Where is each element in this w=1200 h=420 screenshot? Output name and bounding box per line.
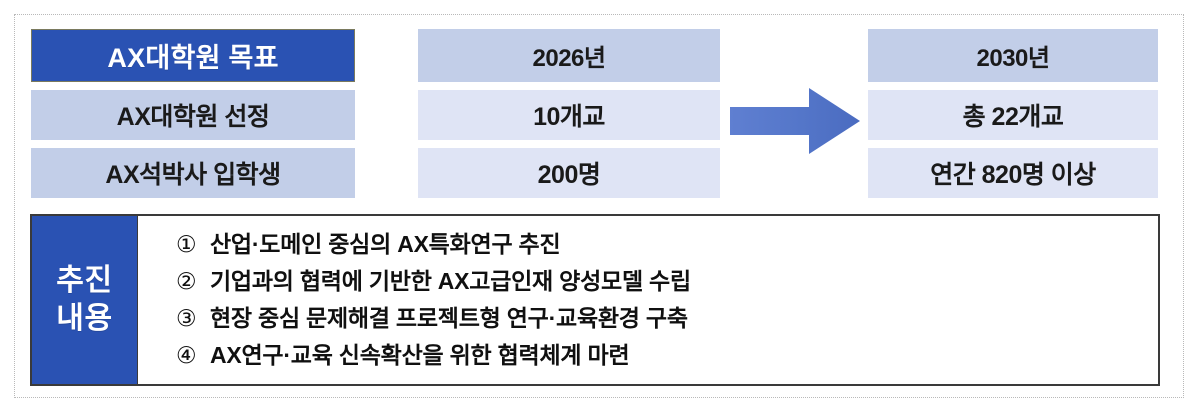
infographic-root: AX대학원 목표 2026년 2030년 AX대학원 선정 10개교 총 22개… — [0, 0, 1200, 420]
cell-2030-masters-phd-students: 연간 820명 이상 — [868, 148, 1158, 198]
bullet-marker-2: ② — [176, 270, 210, 293]
bullet-marker-3: ③ — [176, 307, 210, 330]
list-item: ② 기업과의 협력에 기반한 AX고급인재 양성모델 수립 — [176, 263, 1158, 300]
bullet-text-1: 산업·도메인 중심의 AX특화연구 추진 — [210, 233, 560, 256]
bullet-marker-1: ① — [176, 233, 210, 256]
bullet-list: ① 산업·도메인 중심의 AX특화연구 추진 ② 기업과의 협력에 기반한 AX… — [138, 216, 1158, 384]
list-item: ③ 현장 중심 문제해결 프로젝트형 연구·교육환경 구축 — [176, 300, 1158, 337]
bullet-text-2: 기업과의 협력에 기반한 AX고급인재 양성모델 수립 — [210, 270, 691, 293]
column-header-2026: 2026년 — [418, 29, 720, 82]
column-header-2030: 2030년 — [868, 29, 1158, 82]
bullet-marker-4: ④ — [176, 344, 210, 367]
list-item: ④ AX연구·교육 신속확산을 위한 협력체계 마련 — [176, 337, 1158, 374]
content-label-line-1: 추진 — [56, 262, 112, 300]
bullet-text-3: 현장 중심 문제해결 프로젝트형 연구·교육환경 구축 — [210, 307, 688, 330]
content-box: 추진 내용 ① 산업·도메인 중심의 AX특화연구 추진 ② 기업과의 협력에 … — [30, 214, 1160, 386]
bullet-text-4: AX연구·교육 신속확산을 위한 협력체계 마련 — [210, 344, 629, 367]
content-label-cell: 추진 내용 — [32, 216, 138, 384]
row-label-graduate-school-selection: AX대학원 선정 — [31, 90, 355, 140]
goal-table: AX대학원 목표 2026년 2030년 AX대학원 선정 10개교 총 22개… — [0, 0, 1200, 205]
goal-table-title-cell: AX대학원 목표 — [31, 29, 355, 82]
cell-2026-masters-phd-students: 200명 — [418, 148, 720, 198]
cell-2030-graduate-school-selection: 총 22개교 — [868, 90, 1158, 140]
row-label-masters-phd-students: AX석박사 입학생 — [31, 148, 355, 198]
cell-2026-graduate-school-selection: 10개교 — [418, 90, 720, 140]
right-arrow-icon — [730, 88, 860, 154]
list-item: ① 산업·도메인 중심의 AX특화연구 추진 — [176, 226, 1158, 263]
content-label-line-2: 내용 — [56, 300, 112, 338]
